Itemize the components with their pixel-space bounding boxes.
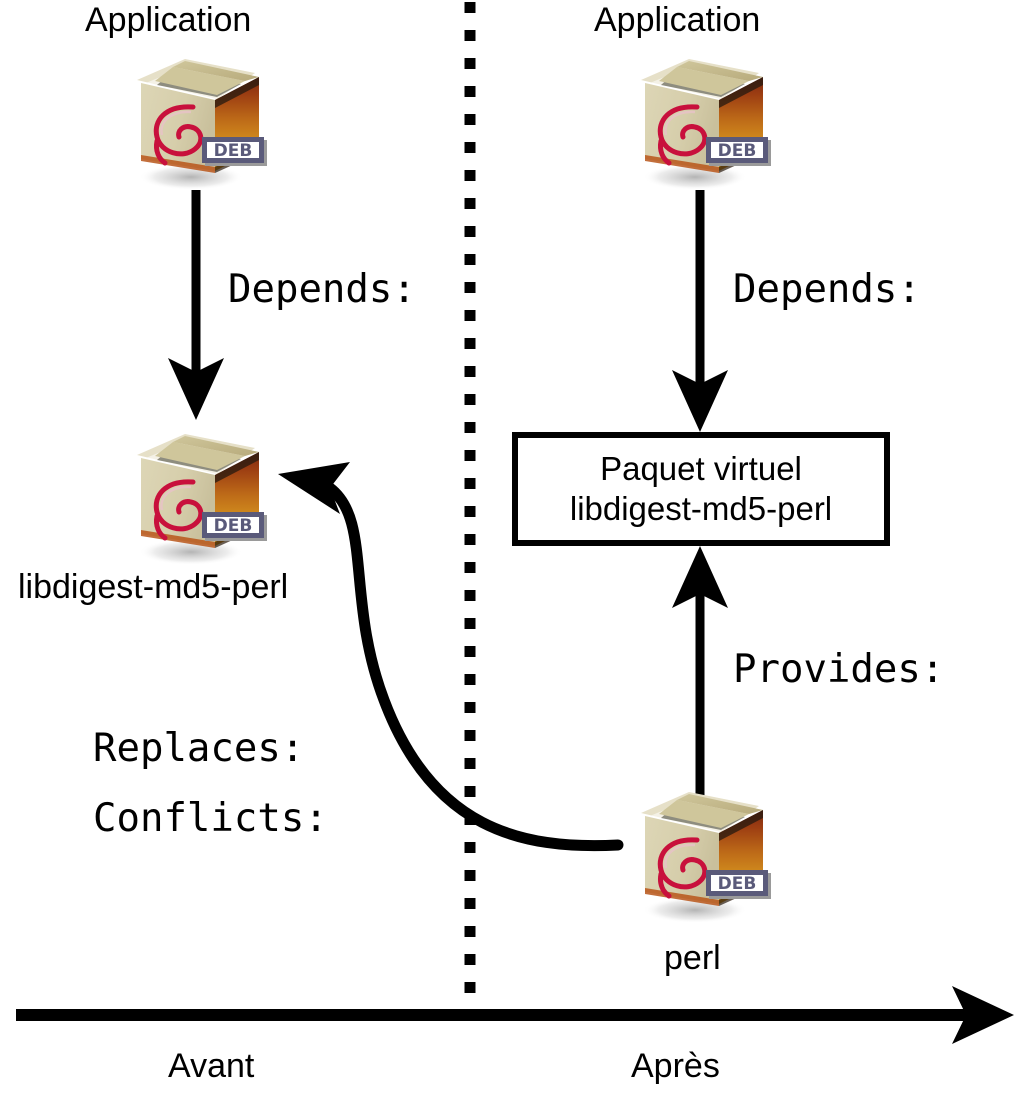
debian-package-icon: DEB [625, 45, 775, 195]
debian-virtual-package-diagram: DEB [0, 0, 1024, 1094]
replaces-label: Replaces: [93, 729, 304, 768]
debian-package-icon: DEB [121, 420, 271, 570]
debian-package-icon: DEB [121, 45, 271, 195]
deb-badge: DEB [706, 137, 771, 166]
virtual-package-line2: libdigest-md5-perl [570, 489, 832, 529]
libdigest-package-label: libdigest-md5-perl [18, 570, 288, 604]
left-application-label: Application [85, 3, 251, 37]
svg-text:DEB: DEB [214, 141, 253, 161]
deb-badge: DEB [202, 137, 267, 166]
right-depends-arrow [672, 190, 728, 432]
left-depends-label: Depends: [228, 270, 416, 309]
conflicts-label: Conflicts: [93, 799, 328, 838]
debian-package-icon: DEB [625, 778, 775, 928]
virtual-package-line1: Paquet virtuel [600, 449, 802, 489]
timeline-after-label: Après [631, 1049, 720, 1083]
virtual-package-box: Paquet virtuel libdigest-md5-perl [512, 432, 890, 546]
svg-text:DEB: DEB [718, 874, 757, 894]
svg-text:DEB: DEB [214, 516, 253, 536]
provides-arrow [672, 546, 728, 808]
right-application-label: Application [594, 3, 760, 37]
left-depends-arrow [168, 190, 224, 420]
timeline-axis [16, 986, 1014, 1044]
deb-badge: DEB [706, 870, 771, 899]
deb-badge: DEB [202, 512, 267, 541]
perl-package-label: perl [664, 941, 721, 975]
svg-text:DEB: DEB [718, 141, 757, 161]
right-depends-label: Depends: [733, 270, 921, 309]
timeline-before-label: Avant [168, 1049, 254, 1083]
provides-label: Provides: [733, 650, 944, 689]
